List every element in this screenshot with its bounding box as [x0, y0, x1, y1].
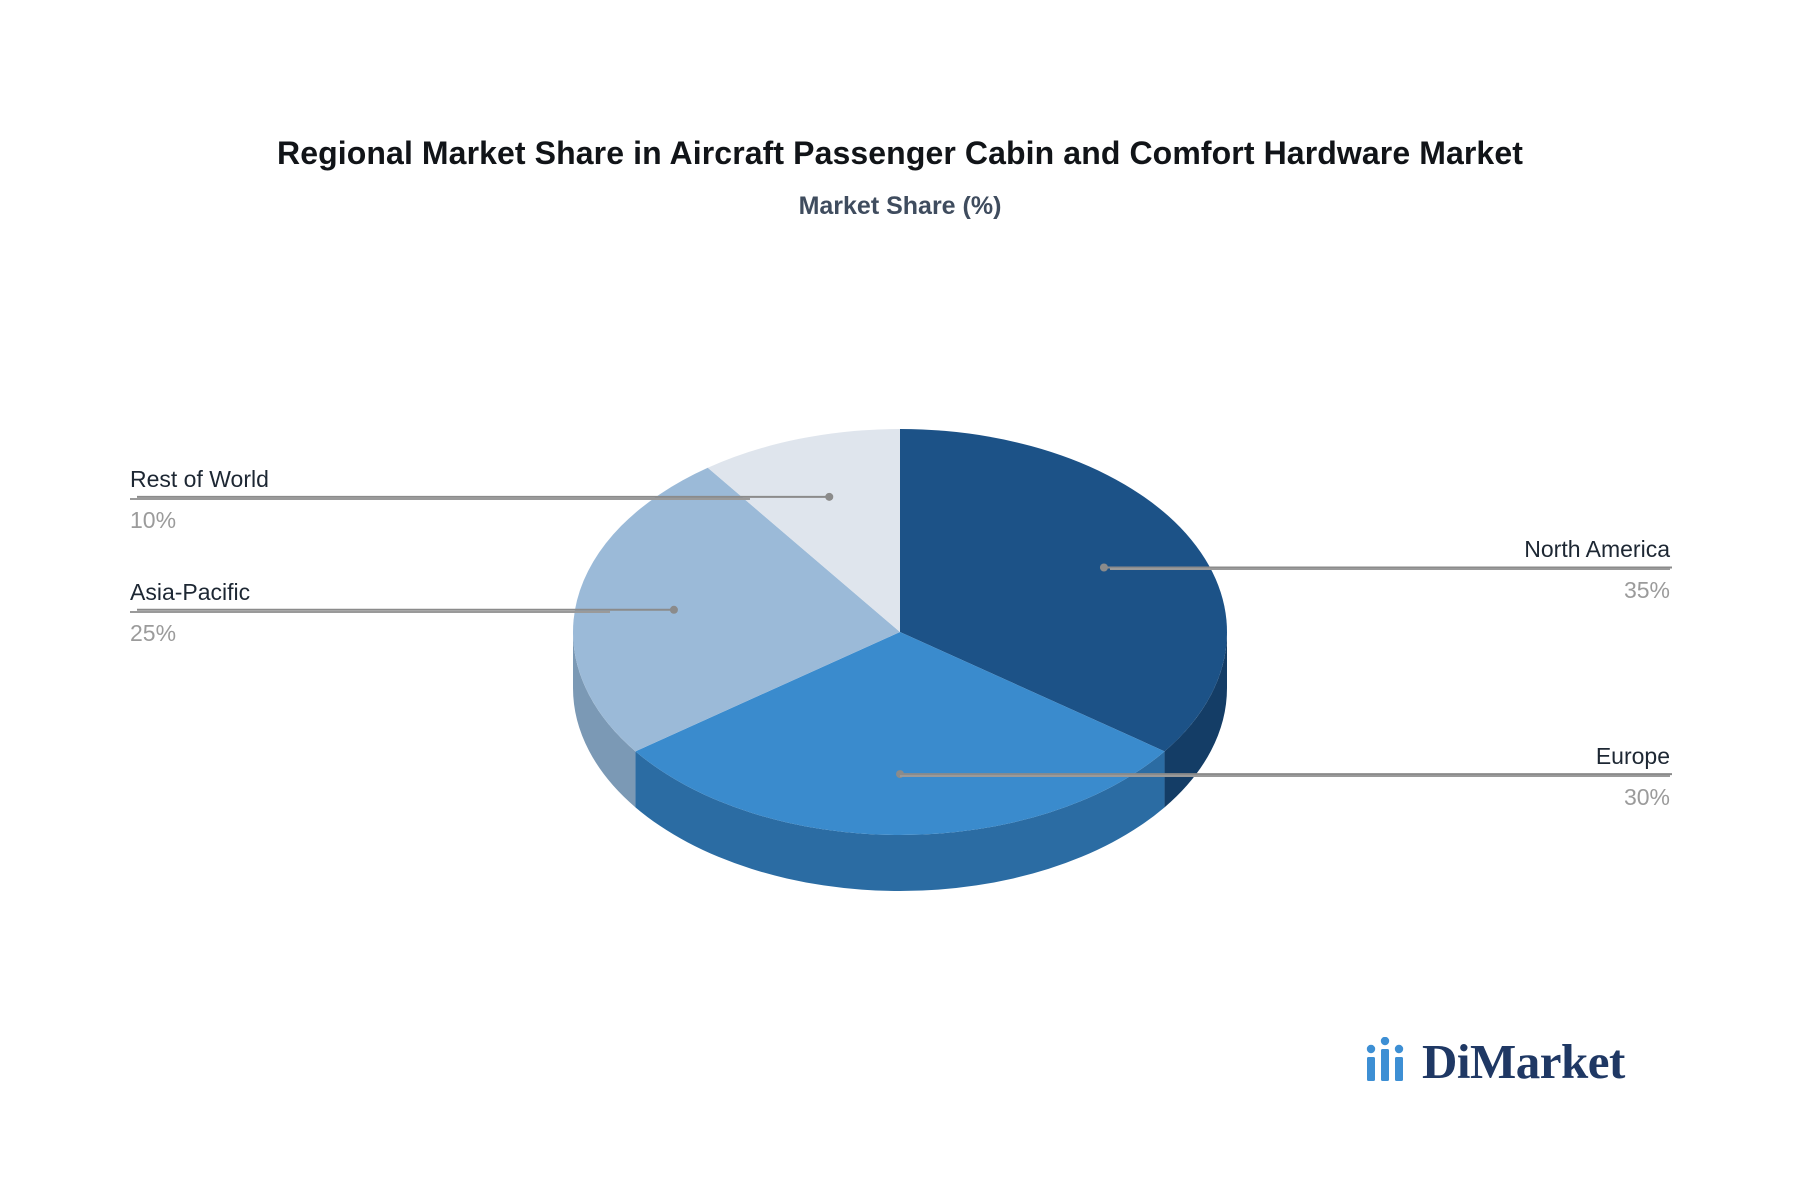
dimarket-logo: DiMarket	[1365, 1037, 1625, 1086]
callout-rule	[130, 611, 610, 613]
callout-rest-of-world: Rest of World 10%	[130, 464, 750, 535]
pie-chart: Rest of World 10% Asia-Pacific 25% North…	[0, 0, 1800, 1196]
callout-value-north-america: 35%	[1110, 575, 1670, 605]
callout-north-america: North America 35%	[1110, 534, 1670, 605]
callout-value-rest-of-world: 10%	[130, 505, 750, 535]
callout-label-europe: Europe	[900, 741, 1670, 771]
callout-rule	[900, 775, 1670, 777]
bar-chart-icon	[1365, 1041, 1413, 1083]
chart-canvas: Regional Market Share in Aircraft Passen…	[0, 0, 1800, 1196]
logo-wordmark: DiMarket	[1422, 1037, 1625, 1086]
callout-asia-pacific: Asia-Pacific 25%	[130, 577, 610, 648]
callout-value-asia-pacific: 25%	[130, 618, 610, 648]
callout-label-rest-of-world: Rest of World	[130, 464, 750, 494]
callout-rule	[130, 498, 750, 500]
callout-label-asia-pacific: Asia-Pacific	[130, 577, 610, 607]
callout-rule	[1110, 568, 1670, 570]
callout-label-north-america: North America	[1110, 534, 1670, 564]
callout-europe: Europe 30%	[900, 741, 1670, 812]
callout-value-europe: 30%	[900, 782, 1670, 812]
